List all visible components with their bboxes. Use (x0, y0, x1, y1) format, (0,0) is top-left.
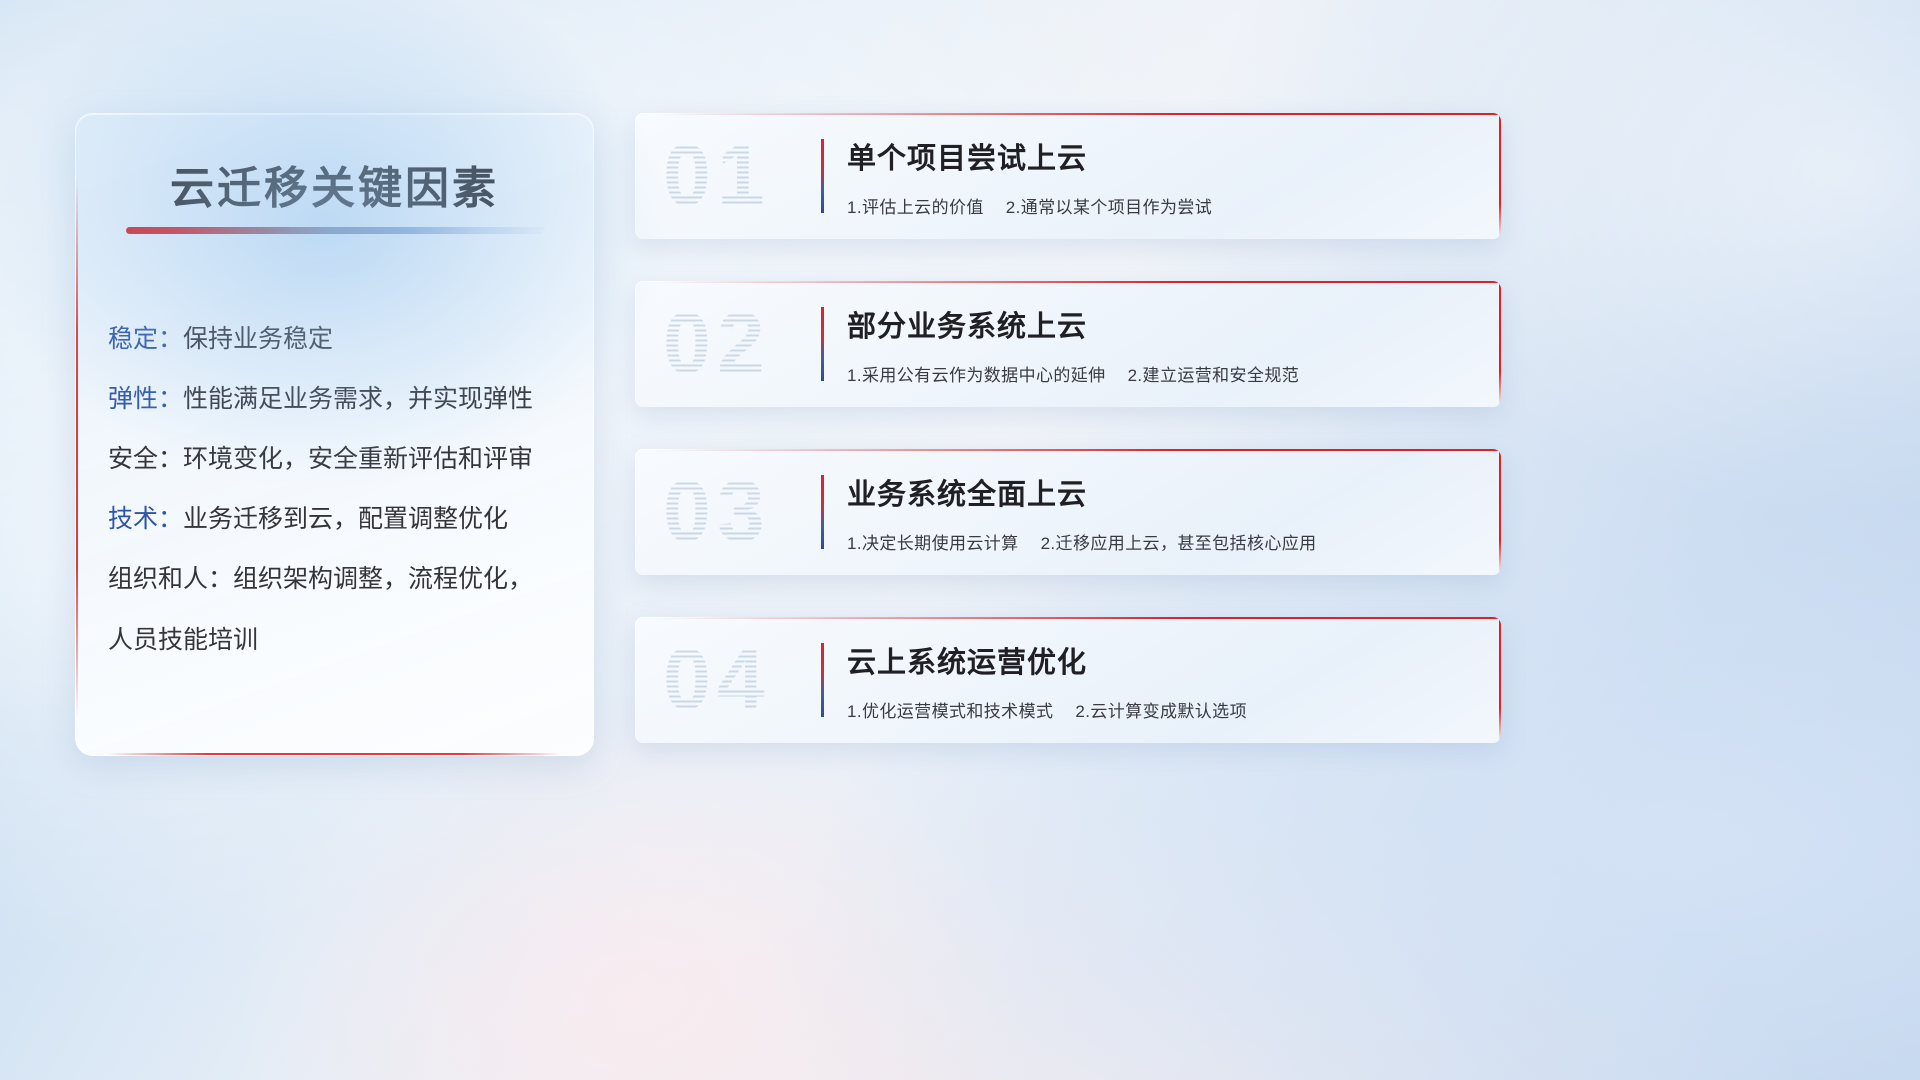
factor-item-organization-line2: 人员技能培训 (108, 609, 567, 671)
factor-item-organization: 组织和人：组织架构调整，流程优化， (108, 549, 567, 609)
step-body: 部分业务系统上云 1.采用公有云作为数据中心的延伸2.建立运营和安全规范 (847, 303, 1477, 386)
card-top-red-edge (652, 617, 1501, 619)
step-description: 1.评估上云的价值2.通常以某个项目作为尝试 (847, 193, 1477, 218)
step-point-2: 2.云计算变成默认选项 (1075, 702, 1247, 721)
card-right-red-edge (1499, 281, 1501, 407)
card-top-red-edge (652, 449, 1501, 451)
step-description: 1.优化运营模式和技术模式2.云计算变成默认选项 (847, 697, 1477, 722)
step-title: 部分业务系统上云 (847, 303, 1477, 345)
step-point-1: 1.决定长期使用云计算 (847, 534, 1019, 553)
factor-text: 业务迁移到云，配置调整优化 (183, 505, 508, 533)
factor-text: 环境变化，安全重新评估和评审 (183, 445, 533, 473)
factor-text: 人员技能培训 (108, 626, 258, 654)
step-point-1: 1.采用公有云作为数据中心的延伸 (847, 366, 1106, 385)
step-point-2: 2.通常以某个项目作为尝试 (1006, 198, 1212, 217)
factor-item-stability: 稳定：保持业务稳定 (108, 309, 567, 369)
step-number: 04 (663, 631, 771, 730)
step-card-01[interactable]: 01 单个项目尝试上云 1.评估上云的价值2.通常以某个项目作为尝试 (635, 113, 1501, 239)
step-point-1: 1.优化运营模式和技术模式 (847, 702, 1053, 721)
step-point-1: 1.评估上云的价值 (847, 198, 984, 217)
factor-item-technology: 技术：业务迁移到云，配置调整优化 (108, 489, 567, 549)
step-body: 云上系统运营优化 1.优化运营模式和技术模式2.云计算变成默认选项 (847, 639, 1477, 722)
factor-text: 保持业务稳定 (183, 325, 333, 353)
step-number: 02 (663, 295, 771, 394)
step-point-2: 2.迁移应用上云，甚至包括核心应用 (1041, 534, 1317, 553)
card-top-red-edge (652, 113, 1501, 115)
factor-text: 组织架构调整，流程优化， (233, 565, 533, 593)
card-left-red-edge (76, 178, 78, 716)
factor-label: 弹性： (108, 385, 183, 413)
step-divider-bar (821, 139, 824, 213)
step-title: 单个项目尝试上云 (847, 135, 1477, 177)
step-card-02[interactable]: 02 部分业务系统上云 1.采用公有云作为数据中心的延伸2.建立运营和安全规范 (635, 281, 1501, 407)
card-right-red-edge (1499, 617, 1501, 743)
card-left-highlight (635, 622, 636, 738)
slide-canvas: 云迁移关键因素 稳定：保持业务稳定 弹性：性能满足业务需求，并实现弹性 安全：环… (0, 0, 1920, 1080)
factor-item-elasticity: 弹性：性能满足业务需求，并实现弹性 (108, 369, 567, 429)
step-card-04[interactable]: 04 云上系统运营优化 1.优化运营模式和技术模式2.云计算变成默认选项 (635, 617, 1501, 743)
key-factor-list: 稳定：保持业务稳定 弹性：性能满足业务需求，并实现弹性 安全：环境变化，安全重新… (108, 309, 567, 671)
card-right-red-edge (1499, 449, 1501, 575)
step-point-2: 2.建立运营和安全规范 (1128, 366, 1300, 385)
page-title: 云迁移关键因素 (76, 152, 593, 216)
step-divider-bar (821, 643, 824, 717)
step-description: 1.决定长期使用云计算2.迁移应用上云，甚至包括核心应用 (847, 529, 1477, 554)
step-card-03[interactable]: 03 业务系统全面上云 1.决定长期使用云计算2.迁移应用上云，甚至包括核心应用 (635, 449, 1501, 575)
step-number: 01 (663, 127, 771, 226)
step-number: 03 (663, 463, 771, 562)
factor-label: 安全： (108, 445, 183, 473)
key-factors-card: 云迁移关键因素 稳定：保持业务稳定 弹性：性能满足业务需求，并实现弹性 安全：环… (75, 113, 594, 756)
card-right-red-edge (1499, 113, 1501, 239)
factor-label: 稳定： (108, 325, 183, 353)
step-body: 单个项目尝试上云 1.评估上云的价值2.通常以某个项目作为尝试 (847, 135, 1477, 218)
step-title: 云上系统运营优化 (847, 639, 1477, 681)
step-body: 业务系统全面上云 1.决定长期使用云计算2.迁移应用上云，甚至包括核心应用 (847, 471, 1477, 554)
step-description: 1.采用公有云作为数据中心的延伸2.建立运营和安全规范 (847, 361, 1477, 386)
migration-steps-list: 01 单个项目尝试上云 1.评估上云的价值2.通常以某个项目作为尝试 02 部分… (635, 113, 1501, 785)
card-left-highlight (635, 118, 636, 234)
step-divider-bar (821, 475, 824, 549)
card-left-highlight (635, 286, 636, 402)
factor-label: 技术： (108, 505, 183, 533)
title-underline-rule (126, 227, 546, 234)
factor-label: 组织和人： (108, 565, 233, 593)
card-top-red-edge (652, 281, 1501, 283)
step-divider-bar (821, 307, 824, 381)
factor-item-security: 安全：环境变化，安全重新评估和评审 (108, 429, 567, 489)
step-title: 业务系统全面上云 (847, 471, 1477, 513)
card-left-highlight (635, 454, 636, 570)
factor-text: 性能满足业务需求，并实现弹性 (183, 385, 533, 413)
card-bottom-red-edge (107, 753, 562, 755)
